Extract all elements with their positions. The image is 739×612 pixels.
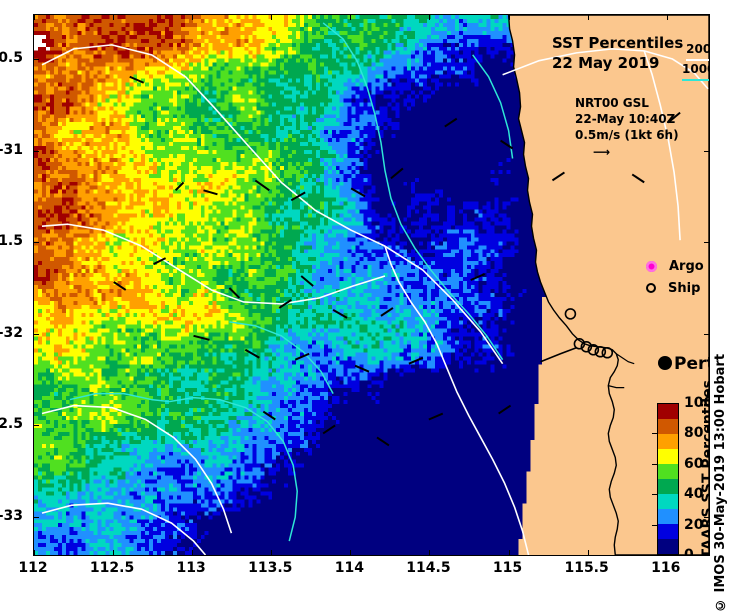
colorbar-tick <box>652 433 657 434</box>
argo-dot-icon <box>646 261 657 272</box>
y-axis-label: -30.5 <box>0 50 23 66</box>
vector-scale-arrow-icon: ⟶ <box>593 144 679 160</box>
y-tick <box>33 425 39 426</box>
colorbar-band <box>658 479 678 494</box>
y-axis-label: -33 <box>0 508 23 524</box>
colorbar: 020406080100 <box>657 403 679 555</box>
x-tick <box>192 550 193 556</box>
legend-item-ship: Ship <box>646 277 704 299</box>
colorbar-band <box>658 509 678 524</box>
map-title: SST Percentiles 22 May 2019 <box>552 33 683 73</box>
x-axis-label: 115 <box>493 560 522 576</box>
x-tick <box>34 550 35 556</box>
title-line-1: SST Percentiles <box>552 33 683 53</box>
marker-legend: Argo Ship <box>646 255 704 299</box>
y-axis-label: -32.5 <box>0 416 23 432</box>
x-axis-label: 114.5 <box>406 560 450 576</box>
y-tick <box>33 59 39 60</box>
model-timestamp: 22-May 10:40Z <box>575 111 679 127</box>
x-axis-label: 113.5 <box>248 560 292 576</box>
colorbar-band <box>658 524 678 539</box>
x-tick <box>509 550 510 556</box>
y-tick <box>704 242 710 243</box>
x-tick <box>667 14 668 20</box>
colorbar-tick-label: 0 <box>684 547 694 556</box>
y-tick <box>704 151 710 152</box>
model-name: NRT00 GSL <box>575 95 679 111</box>
x-tick <box>429 550 430 556</box>
colorbar-band <box>658 404 678 419</box>
x-tick <box>350 14 351 20</box>
colorbar-tick <box>652 525 657 526</box>
x-tick <box>271 14 272 20</box>
ship-circle-icon <box>646 283 656 293</box>
x-tick <box>350 550 351 556</box>
x-tick <box>192 14 193 20</box>
x-axis-label: 112.5 <box>90 560 134 576</box>
legend-label-ship: Ship <box>668 281 700 296</box>
x-tick <box>588 14 589 20</box>
x-axis-label: 115.5 <box>564 560 608 576</box>
x-tick <box>34 14 35 20</box>
legend-item-argo: Argo <box>646 255 704 277</box>
y-tick <box>33 517 39 518</box>
y-axis-label: -31 <box>0 142 23 158</box>
y-tick <box>33 334 39 335</box>
y-axis-label: -32 <box>0 325 23 341</box>
colorbar-title: SSTAARS SST Percentiles <box>700 403 710 555</box>
colorbar-band <box>658 419 678 434</box>
x-axis-label: 112 <box>18 560 47 576</box>
y-tick <box>33 242 39 243</box>
x-tick <box>271 550 272 556</box>
model-info-block: NRT00 GSL 22-May 10:40Z 0.5m/s (1kt 6h) … <box>575 95 679 160</box>
contour-200m-label: 200m <box>686 41 710 61</box>
colorbar-band <box>658 449 678 464</box>
contour-1000m-label: 1000m <box>682 61 710 81</box>
colorbar-band <box>658 434 678 449</box>
legend-label-argo: Argo <box>669 259 704 274</box>
copyright-credit: © IMOS 30-May-2019 13:00 Hobart <box>713 0 728 612</box>
x-axis-label: 113 <box>177 560 206 576</box>
x-tick <box>429 14 430 20</box>
vector-speed-scale: 0.5m/s (1kt 6h) <box>575 127 679 143</box>
x-axis-label: 114 <box>335 560 364 576</box>
y-axis-label: -31.5 <box>0 233 23 249</box>
colorbar-gradient <box>657 403 679 555</box>
x-tick <box>113 550 114 556</box>
x-tick <box>113 14 114 20</box>
map-plot-area: SST Percentiles 22 May 2019 200m 1000m N… <box>33 14 710 556</box>
perth-city-dot-icon <box>658 356 672 370</box>
depth-contour-legend: 200m 1000m <box>682 41 710 81</box>
y-tick <box>33 151 39 152</box>
colorbar-band <box>658 539 678 554</box>
x-axis-label: 116 <box>651 560 680 576</box>
colorbar-band <box>658 494 678 509</box>
title-line-2: 22 May 2019 <box>552 53 683 73</box>
x-tick <box>588 550 589 556</box>
y-tick <box>704 334 710 335</box>
colorbar-band <box>658 464 678 479</box>
x-tick <box>509 14 510 20</box>
colorbar-tick <box>652 494 657 495</box>
colorbar-tick <box>652 464 657 465</box>
perth-city-label: Perth <box>674 354 710 374</box>
